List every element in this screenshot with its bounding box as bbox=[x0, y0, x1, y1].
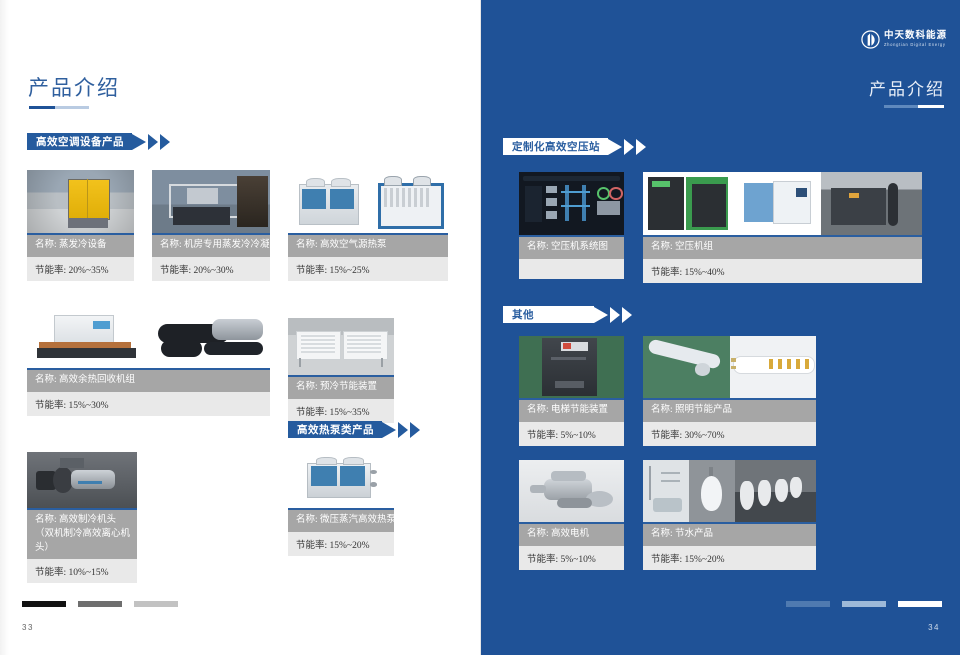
page-number-left: 33 bbox=[22, 623, 34, 632]
product-photo bbox=[149, 305, 271, 368]
product-photo bbox=[27, 170, 134, 233]
product-photo bbox=[643, 460, 689, 522]
slide-spread: 产品介绍 高效空调设备产品 名称: 蒸发冷设备 节能率: 20%~35% bbox=[0, 0, 960, 655]
product-rate: 节能率: 5%~10% bbox=[519, 422, 624, 446]
product-rate: 节能率: 30%~70% bbox=[643, 422, 816, 446]
progress-bar-2 bbox=[842, 601, 886, 607]
product-name: 名称: 高效电机 bbox=[519, 522, 624, 546]
banner-arrow-icon bbox=[594, 307, 608, 323]
banner-chevron-icon bbox=[610, 307, 620, 323]
product-photo bbox=[152, 170, 270, 233]
progress-bars-left bbox=[22, 601, 178, 607]
banner-arrow-icon bbox=[132, 134, 146, 150]
right-page: 中天数科能源 Zhongtian Digital Energy 产品介绍 定制化… bbox=[481, 0, 960, 655]
banner-arrow-icon bbox=[382, 422, 396, 438]
banner-chevron-icon bbox=[160, 134, 170, 150]
product-name: 名称: 蒸发冷设备 bbox=[27, 233, 134, 257]
product-photo bbox=[519, 172, 624, 235]
product-rate: 节能率: 10%~15% bbox=[27, 559, 137, 583]
banner-chevron-icon bbox=[636, 139, 646, 155]
product-photo bbox=[730, 336, 817, 398]
brand-name-en: Zhongtian Digital Energy bbox=[884, 43, 947, 47]
banner-chevron-icon bbox=[148, 134, 158, 150]
banner-chevron-icon bbox=[622, 307, 632, 323]
product-name: 名称: 节水产品 bbox=[643, 522, 816, 546]
product-name: 名称: 预冷节能装置 bbox=[288, 375, 394, 399]
product-rate: 节能率: 5%~10% bbox=[519, 546, 624, 570]
product-card-evap-cool-equipment[interactable]: 名称: 蒸发冷设备 节能率: 20%~35% bbox=[27, 170, 134, 281]
product-card-chiller-head[interactable]: 名称: 高效制冷机头 （双机制冷高效离心机头） 节能率: 10%~15% bbox=[27, 452, 137, 583]
title-underline-left bbox=[29, 106, 89, 109]
product-name: 名称: 高效空气源热泵 bbox=[288, 233, 448, 257]
product-card-machine-room-evap-condenser[interactable]: 名称: 机房专用蒸发冷冷凝器 节能率: 20%~30% bbox=[152, 170, 270, 281]
banner-arrow-icon bbox=[608, 139, 622, 155]
banner-chevron-icon bbox=[398, 422, 408, 438]
product-photo bbox=[288, 318, 394, 375]
product-card-water-saving-products[interactable]: 名称: 节水产品 节能率: 15%~20% bbox=[643, 460, 816, 570]
product-rate: 节能率: 15%~20% bbox=[288, 532, 394, 556]
product-photo bbox=[519, 336, 624, 398]
product-rate bbox=[519, 259, 624, 279]
brand-name-cn: 中天数科能源 bbox=[884, 31, 947, 41]
section-banner-air-compressor-station: 定制化高效空压站 bbox=[503, 138, 646, 155]
product-card-air-source-heat-pump[interactable]: 名称: 高效空气源热泵 节能率: 15%~25% bbox=[288, 170, 448, 281]
product-photo bbox=[27, 452, 137, 508]
product-name-line2: （双机制冷高效离心机头） bbox=[35, 529, 130, 553]
banner-chevron-icon bbox=[624, 139, 634, 155]
product-photo bbox=[288, 170, 368, 233]
product-card-high-efficiency-motor[interactable]: 名称: 高效电机 节能率: 5%~10% bbox=[519, 460, 624, 570]
brand-logo: 中天数科能源 Zhongtian Digital Energy bbox=[861, 30, 947, 49]
product-photo bbox=[821, 172, 922, 235]
section-banner-hvac: 高效空调设备产品 bbox=[27, 133, 170, 150]
product-photo bbox=[643, 172, 733, 235]
zhongtian-logo-icon bbox=[861, 30, 880, 49]
product-card-precool-saving-device[interactable]: 名称: 预冷节能装置 节能率: 15%~35% bbox=[288, 318, 394, 423]
product-photo bbox=[643, 336, 730, 398]
product-name-line1: 名称: 高效制冷机头 bbox=[35, 515, 116, 525]
page-number-right: 34 bbox=[928, 623, 940, 632]
product-card-waste-heat-recovery-unit[interactable]: 名称: 高效余热回收机组 节能率: 15%~30% bbox=[27, 305, 270, 416]
product-card-compressor-system-diagram[interactable]: 名称: 空压机系统图 bbox=[519, 172, 624, 279]
left-page: 产品介绍 高效空调设备产品 名称: 蒸发冷设备 节能率: 20%~35% bbox=[0, 0, 481, 655]
product-photo bbox=[735, 460, 816, 522]
product-name: 名称: 微压蒸汽高效热泵 bbox=[288, 508, 394, 532]
product-name: 名称: 空压机组 bbox=[643, 235, 922, 259]
section-banner-air-compressor-station-label: 定制化高效空压站 bbox=[503, 138, 608, 155]
progress-bar-3 bbox=[134, 601, 178, 607]
section-banner-others: 其他 bbox=[503, 306, 632, 323]
page-title-right: 产品介绍 bbox=[869, 75, 945, 100]
product-photo bbox=[733, 172, 821, 235]
product-photo bbox=[368, 170, 448, 233]
section-banner-others-label: 其他 bbox=[503, 306, 594, 323]
progress-bar-1 bbox=[786, 601, 830, 607]
product-photo bbox=[27, 305, 149, 368]
product-name: 名称: 机房专用蒸发冷冷凝器 bbox=[152, 233, 270, 257]
product-name: 名称: 照明节能产品 bbox=[643, 398, 816, 422]
product-rate: 节能率: 15%~20% bbox=[643, 546, 816, 570]
product-card-compressor-unit[interactable]: 名称: 空压机组 节能率: 15%~40% bbox=[643, 172, 922, 283]
product-card-elevator-energy-saver[interactable]: 名称: 电梯节能装置 节能率: 5%~10% bbox=[519, 336, 624, 446]
progress-bar-2 bbox=[78, 601, 122, 607]
product-name: 名称: 高效制冷机头 （双机制冷高效离心机头） bbox=[27, 508, 137, 559]
product-rate: 节能率: 15%~30% bbox=[27, 392, 270, 416]
product-rate: 节能率: 20%~35% bbox=[27, 257, 134, 281]
product-name: 名称: 电梯节能装置 bbox=[519, 398, 624, 422]
product-photo bbox=[288, 450, 394, 508]
product-name: 名称: 高效余热回收机组 bbox=[27, 368, 270, 392]
title-underline-right bbox=[884, 105, 944, 108]
section-banner-heatpump: 高效热泵类产品 bbox=[288, 421, 420, 438]
progress-bar-3 bbox=[898, 601, 942, 607]
product-card-low-pressure-steam-heat-pump[interactable]: 名称: 微压蒸汽高效热泵 节能率: 15%~20% bbox=[288, 450, 394, 556]
page-title-left: 产品介绍 bbox=[28, 72, 120, 102]
section-banner-hvac-label: 高效空调设备产品 bbox=[27, 133, 132, 150]
product-card-lighting-energy-saving[interactable]: 名称: 照明节能产品 节能率: 30%~70% bbox=[643, 336, 816, 446]
product-rate: 节能率: 15%~35% bbox=[288, 399, 394, 423]
product-rate: 节能率: 15%~40% bbox=[643, 259, 922, 283]
section-banner-heatpump-label: 高效热泵类产品 bbox=[288, 421, 382, 438]
product-rate: 节能率: 20%~30% bbox=[152, 257, 270, 281]
progress-bars-right bbox=[786, 601, 942, 607]
product-name: 名称: 空压机系统图 bbox=[519, 235, 624, 259]
product-photo bbox=[519, 460, 624, 522]
banner-chevron-icon bbox=[410, 422, 420, 438]
progress-bar-1 bbox=[22, 601, 66, 607]
product-rate: 节能率: 15%~25% bbox=[288, 257, 448, 281]
product-photo bbox=[689, 460, 735, 522]
